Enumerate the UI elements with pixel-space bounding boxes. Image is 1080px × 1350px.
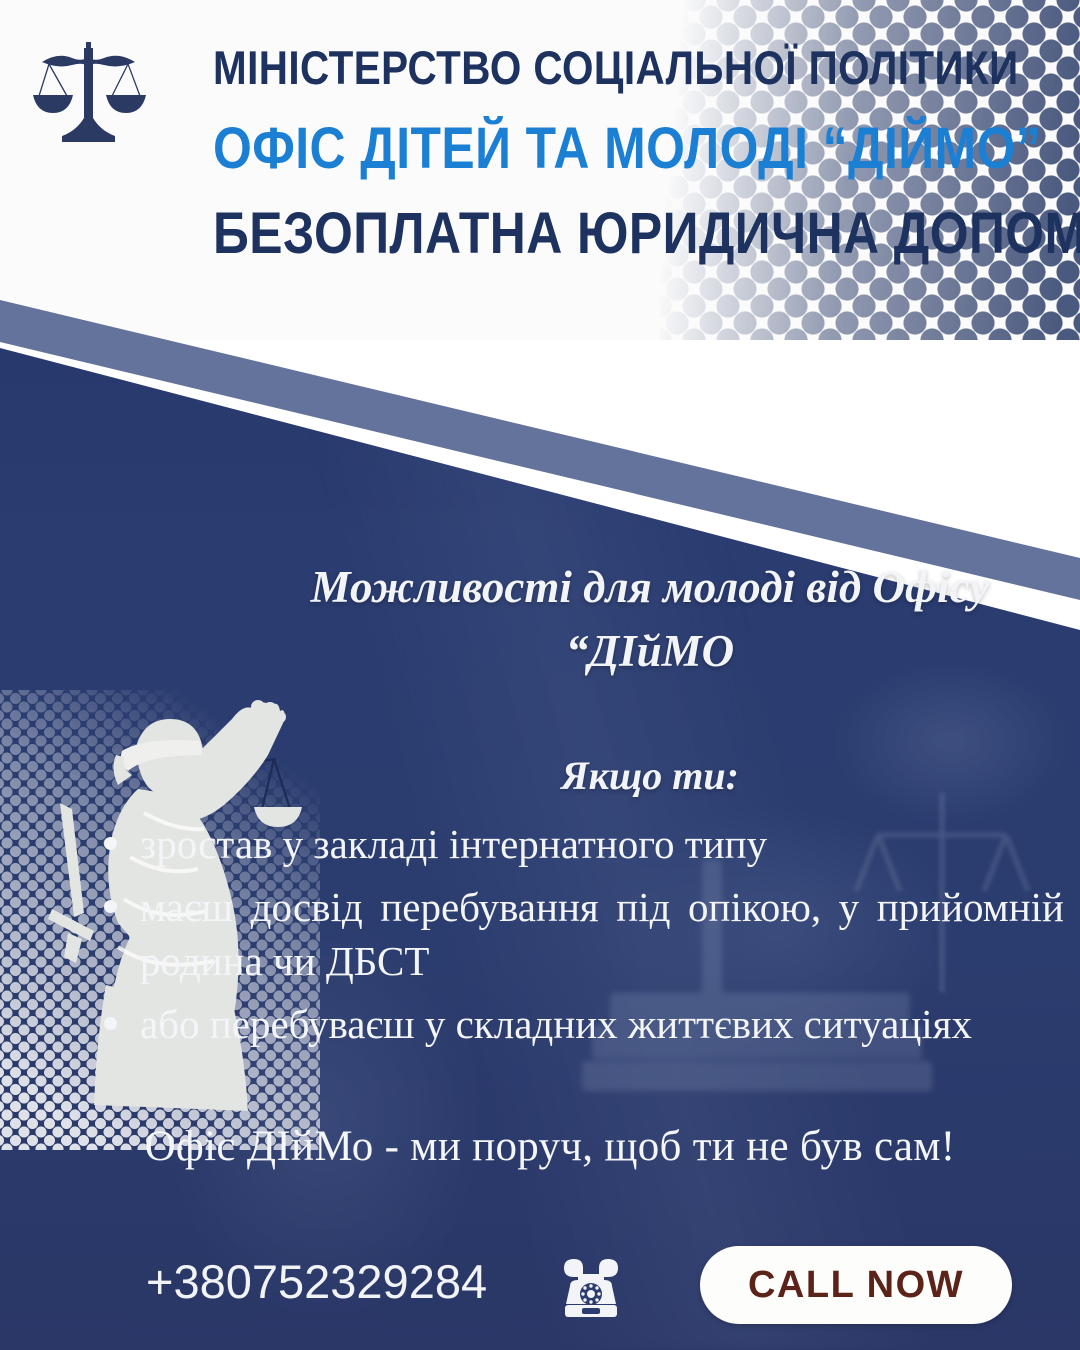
header-title-block: МІНІСТЕРСТВО СОЦІАЛЬНОЇ ПОЛІТИКИ ОФІС ДІ… [150, 44, 1050, 263]
opportunities-title: Можливості для молоді від Офісу “ДІйМО [300, 556, 1000, 684]
phone-number[interactable]: +380752329284 [146, 1254, 487, 1309]
header-line-office: ОФІС ДІТЕЙ ТА МОЛОДІ “ДІЙМО” [213, 119, 987, 178]
list-item: маєш досвід перебування під опікою, у пр… [102, 881, 1064, 988]
header-line-ministry: МІНІСТЕРСТВО СОЦІАЛЬНОЇ ПОЛІТИКИ [213, 44, 987, 92]
scales-of-justice-icon [24, 32, 154, 157]
list-item: зростав у закладі інтернатного типу [102, 818, 1064, 871]
rotary-telephone-icon [556, 1254, 626, 1324]
tagline-text: Офіс ДІйМо - ми поруч, щоб ти не був сам… [60, 1122, 1040, 1171]
if-you-are-label: Якщо ти: [300, 752, 1000, 799]
call-now-button[interactable]: CALL NOW [700, 1246, 1012, 1324]
header-line-service: БЕЗОПЛАТНА ЮРИДИЧНА ДОПОМОГА [213, 204, 987, 263]
list-item: або перебуваєш у складних життєвих ситуа… [102, 998, 1064, 1051]
criteria-list: зростав у закладі інтернатного типу маєш… [64, 818, 1064, 1051]
poster-canvas: МІНІСТЕРСТВО СОЦІАЛЬНОЇ ПОЛІТИКИ ОФІС ДІ… [0, 0, 1080, 1350]
call-now-button-label: CALL NOW [748, 1264, 964, 1307]
